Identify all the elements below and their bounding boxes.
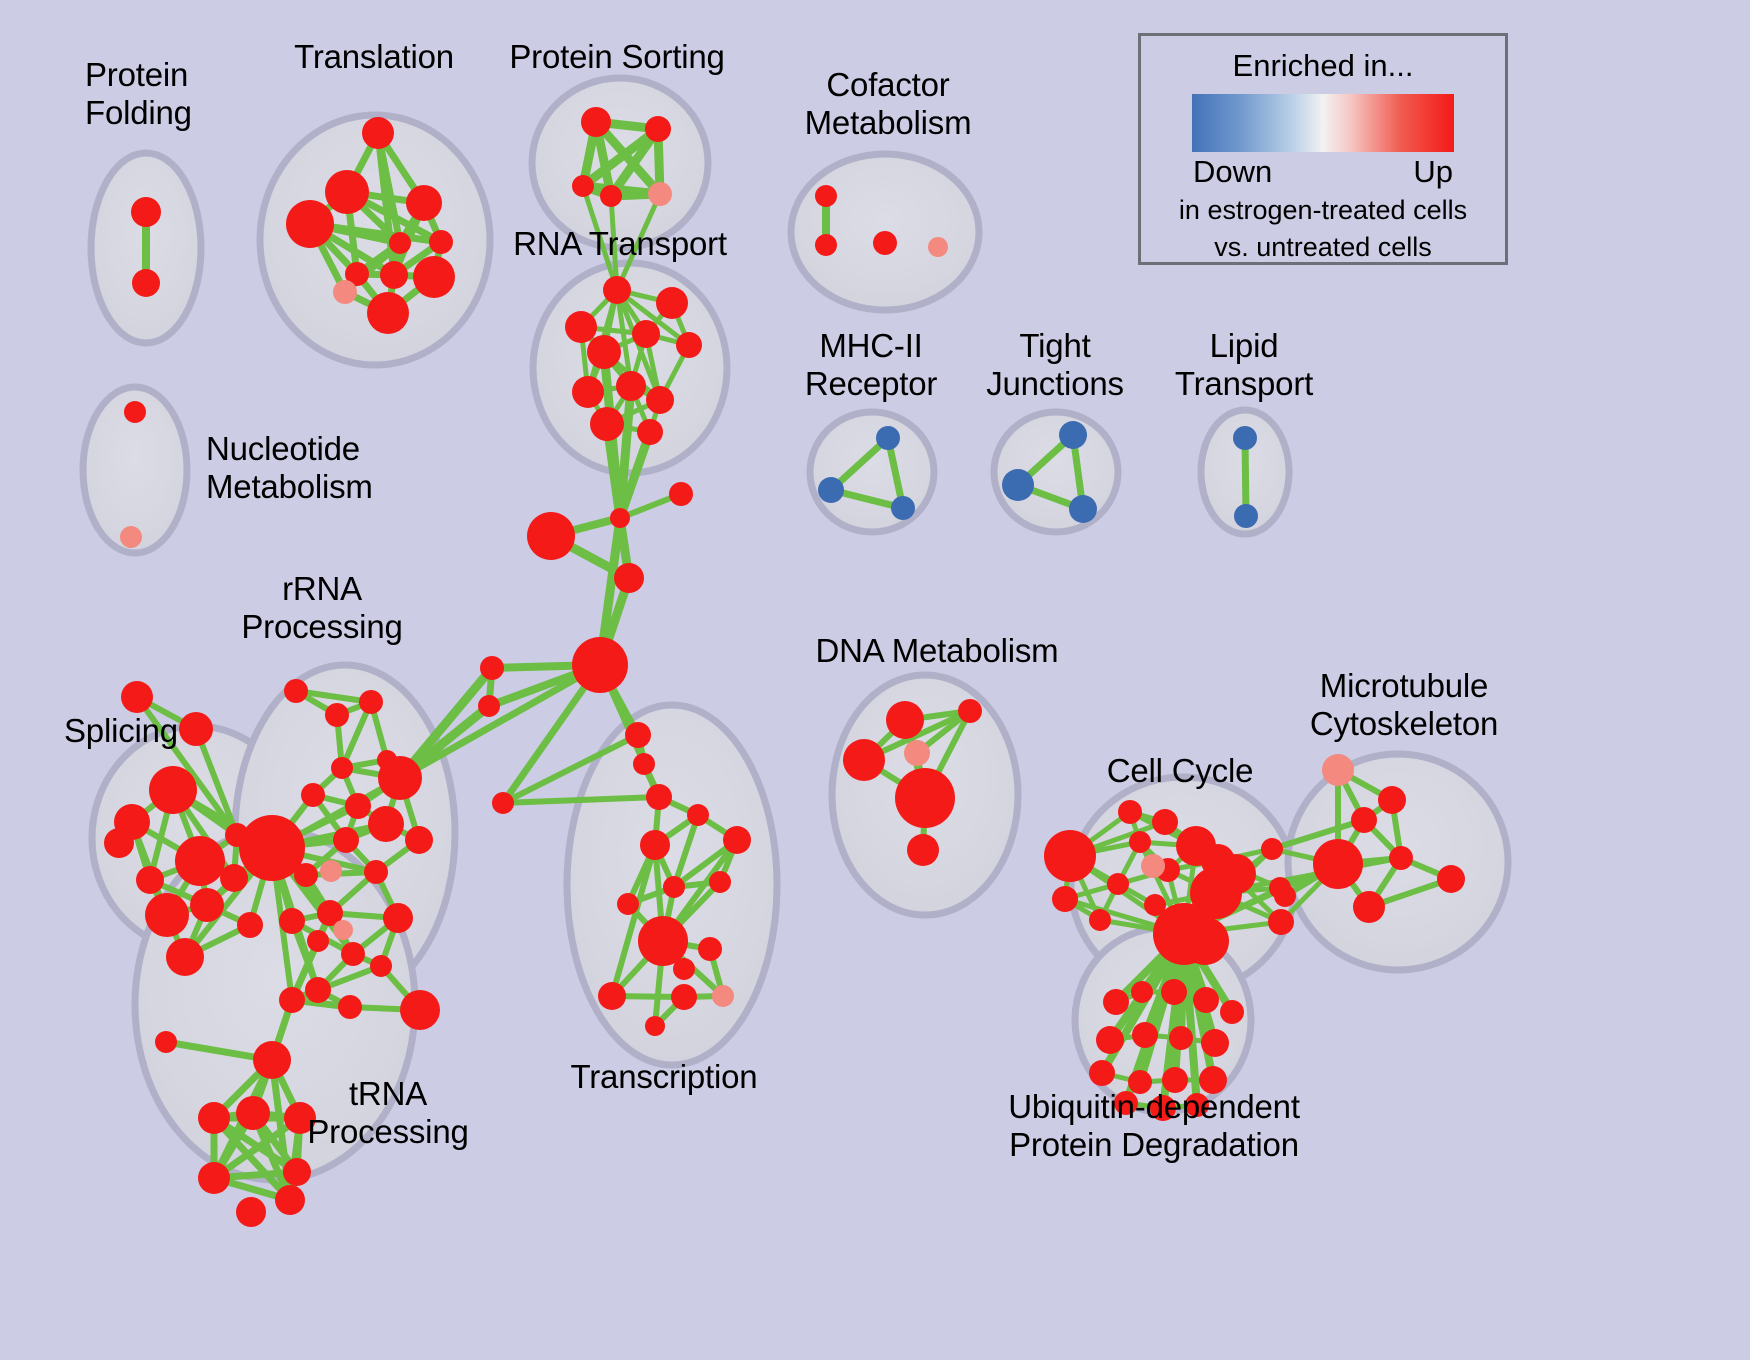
- node-up: [687, 804, 709, 826]
- node-up-weak: [712, 985, 734, 1007]
- node-up: [1169, 1026, 1193, 1050]
- node-up: [645, 1016, 665, 1036]
- blob-mhc-ii-receptor: [810, 412, 934, 532]
- node-up: [239, 815, 305, 881]
- node-up: [1181, 917, 1229, 965]
- node-up: [600, 185, 622, 207]
- node-up: [895, 768, 955, 828]
- node-up: [1161, 979, 1187, 1005]
- node-up: [124, 401, 146, 423]
- node-up: [663, 876, 685, 898]
- cluster-label-translation: Translation: [294, 38, 454, 76]
- node-up: [1089, 1060, 1115, 1086]
- node-up: [527, 512, 575, 560]
- node-up: [587, 335, 621, 369]
- node-up: [155, 1031, 177, 1053]
- node-up: [1261, 838, 1283, 860]
- node-down: [1069, 495, 1097, 523]
- node-up: [1107, 873, 1129, 895]
- node-up: [1103, 989, 1129, 1015]
- node-up: [646, 784, 672, 810]
- node-up: [886, 701, 924, 739]
- cluster-label-tight-junctions: Tight Junctions: [986, 327, 1124, 403]
- node-up: [325, 703, 349, 727]
- node-up: [815, 234, 837, 256]
- node-down: [1059, 421, 1087, 449]
- node-up: [1132, 1022, 1158, 1048]
- node-up: [1274, 885, 1296, 907]
- node-up: [671, 984, 697, 1010]
- cluster-label-protein-folding: Protein Folding: [85, 56, 192, 132]
- node-up: [625, 722, 651, 748]
- node-up: [364, 860, 388, 884]
- node-up: [669, 482, 693, 506]
- node-up: [236, 1197, 266, 1227]
- node-up: [405, 826, 433, 854]
- node-up: [676, 332, 702, 358]
- node-up: [616, 371, 646, 401]
- node-up-weak: [333, 280, 357, 304]
- node-up: [565, 311, 597, 343]
- node-up: [1353, 891, 1385, 923]
- node-up: [572, 637, 628, 693]
- node-up: [478, 695, 500, 717]
- node-up: [1201, 1029, 1229, 1057]
- node-up: [492, 792, 514, 814]
- node-up: [709, 871, 731, 893]
- node-up: [646, 386, 674, 414]
- node-up: [413, 256, 455, 298]
- legend-box: Enriched in... Down Up in estrogen-treat…: [1138, 33, 1508, 265]
- node-up-weak: [1322, 754, 1354, 786]
- node-up: [815, 185, 837, 207]
- node-up: [572, 376, 604, 408]
- cluster-label-transcription: Transcription: [571, 1058, 758, 1096]
- node-up: [307, 930, 329, 952]
- node-up: [198, 1102, 230, 1134]
- node-up: [1313, 839, 1363, 889]
- node-up: [610, 508, 630, 528]
- node-down: [1233, 426, 1257, 450]
- node-up: [637, 419, 663, 445]
- node-up: [1268, 909, 1294, 935]
- node-up: [723, 826, 751, 854]
- node-up: [345, 793, 371, 819]
- node-up: [190, 888, 224, 922]
- node-up: [145, 893, 189, 937]
- node-up: [341, 942, 365, 966]
- node-up: [149, 766, 197, 814]
- node-up-weak: [1141, 854, 1165, 878]
- cluster-label-microtubule-cytoskeleton: Microtubule Cytoskeleton: [1310, 667, 1498, 743]
- node-down: [818, 477, 844, 503]
- node-up: [673, 958, 695, 980]
- cluster-label-rrna-processing: rRNA Processing: [241, 570, 402, 646]
- node-up: [1052, 886, 1078, 912]
- legend-endpoints: Down Up: [1193, 154, 1453, 190]
- node-up: [179, 712, 213, 746]
- node-up: [237, 912, 263, 938]
- node-up: [590, 407, 624, 441]
- node-up-weak: [320, 860, 342, 882]
- node-up: [378, 756, 422, 800]
- node-down: [891, 496, 915, 520]
- node-up: [275, 1185, 305, 1215]
- cluster-label-splicing: Splicing: [64, 712, 178, 750]
- node-up: [198, 1162, 230, 1194]
- node-up: [301, 783, 325, 807]
- node-up: [400, 990, 440, 1030]
- node-up: [253, 1041, 291, 1079]
- node-up: [873, 231, 897, 255]
- node-up: [1389, 846, 1413, 870]
- node-up: [1437, 865, 1465, 893]
- node-up-weak: [333, 920, 353, 940]
- cluster-label-rna-transport: RNA Transport: [513, 225, 727, 263]
- legend-up-label: Up: [1413, 154, 1453, 190]
- node-up: [389, 232, 411, 254]
- legend-colorbar: [1192, 94, 1454, 152]
- node-up: [104, 828, 134, 858]
- node-up: [1089, 909, 1111, 931]
- node-up: [284, 679, 308, 703]
- cluster-label-ubiquitin-degradation: Ubiquitin-dependent Protein Degradation: [1008, 1088, 1300, 1164]
- node-up: [1118, 800, 1142, 824]
- node-up: [175, 836, 225, 886]
- node-up: [1096, 1026, 1124, 1054]
- cluster-label-nucleotide-metabolism: Nucleotide Metabolism: [206, 430, 373, 506]
- node-up: [614, 563, 644, 593]
- node-up: [383, 903, 413, 933]
- node-up: [367, 292, 409, 334]
- node-up: [638, 916, 688, 966]
- node-up: [286, 200, 334, 248]
- node-down: [876, 426, 900, 450]
- node-up: [338, 995, 362, 1019]
- node-up: [362, 117, 394, 149]
- node-up: [1131, 981, 1153, 1003]
- node-up: [656, 287, 688, 319]
- node-up: [370, 955, 392, 977]
- node-up: [283, 1158, 311, 1186]
- node-up: [1129, 831, 1151, 853]
- node-up: [1193, 987, 1219, 1013]
- node-up: [617, 893, 639, 915]
- node-up: [603, 276, 631, 304]
- legend-title: Enriched in...: [1141, 48, 1505, 84]
- node-up: [131, 197, 161, 227]
- node-up: [581, 107, 611, 137]
- node-up: [380, 261, 408, 289]
- enrichment-map-figure: Protein Folding Translation Protein Sort…: [0, 0, 1750, 1360]
- node-up: [633, 753, 655, 775]
- node-up: [1220, 1000, 1244, 1024]
- legend-caption-line1: in estrogen-treated cells: [1141, 194, 1505, 227]
- cluster-label-lipid-transport: Lipid Transport: [1175, 327, 1313, 403]
- node-up: [1351, 807, 1377, 833]
- node-up: [359, 690, 383, 714]
- node-up: [429, 230, 453, 254]
- node-up: [958, 699, 982, 723]
- cluster-label-protein-sorting: Protein Sorting: [509, 38, 724, 76]
- cluster-label-cofactor-metabolism: Cofactor Metabolism: [805, 66, 972, 142]
- node-up: [136, 866, 164, 894]
- node-up-weak: [120, 526, 142, 548]
- node-up: [640, 830, 670, 860]
- node-up: [279, 908, 305, 934]
- node-up: [368, 806, 404, 842]
- node-up: [132, 269, 160, 297]
- node-up: [1216, 854, 1256, 894]
- node-up: [843, 739, 885, 781]
- node-up: [645, 116, 671, 142]
- cluster-label-cell-cycle: Cell Cycle: [1107, 752, 1254, 790]
- node-up: [166, 938, 204, 976]
- node-up: [572, 175, 594, 197]
- node-up: [1044, 830, 1096, 882]
- node-up-weak: [904, 740, 930, 766]
- node-up: [236, 1096, 270, 1130]
- node-down: [1002, 469, 1034, 501]
- legend-caption-line2: vs. untreated cells: [1141, 231, 1505, 264]
- cluster-label-mhc-ii-receptor: MHC-II Receptor: [805, 327, 937, 403]
- node-up: [220, 864, 248, 892]
- node-down: [1234, 504, 1258, 528]
- node-up: [698, 937, 722, 961]
- node-up: [480, 656, 504, 680]
- node-up: [325, 170, 369, 214]
- node-up-weak: [928, 237, 948, 257]
- node-up: [1378, 786, 1406, 814]
- node-up: [333, 827, 359, 853]
- node-up: [279, 987, 305, 1013]
- cluster-label-trna-processing: tRNA Processing: [307, 1075, 468, 1151]
- node-up: [121, 681, 153, 713]
- node-up: [1152, 809, 1178, 835]
- node-up: [406, 185, 442, 221]
- cluster-label-dna-metabolism: DNA Metabolism: [816, 632, 1059, 670]
- node-up: [598, 982, 626, 1010]
- node-up: [632, 320, 660, 348]
- node-up: [305, 977, 331, 1003]
- node-up: [331, 757, 353, 779]
- legend-down-label: Down: [1193, 154, 1272, 190]
- node-up-weak: [648, 182, 672, 206]
- node-up: [907, 834, 939, 866]
